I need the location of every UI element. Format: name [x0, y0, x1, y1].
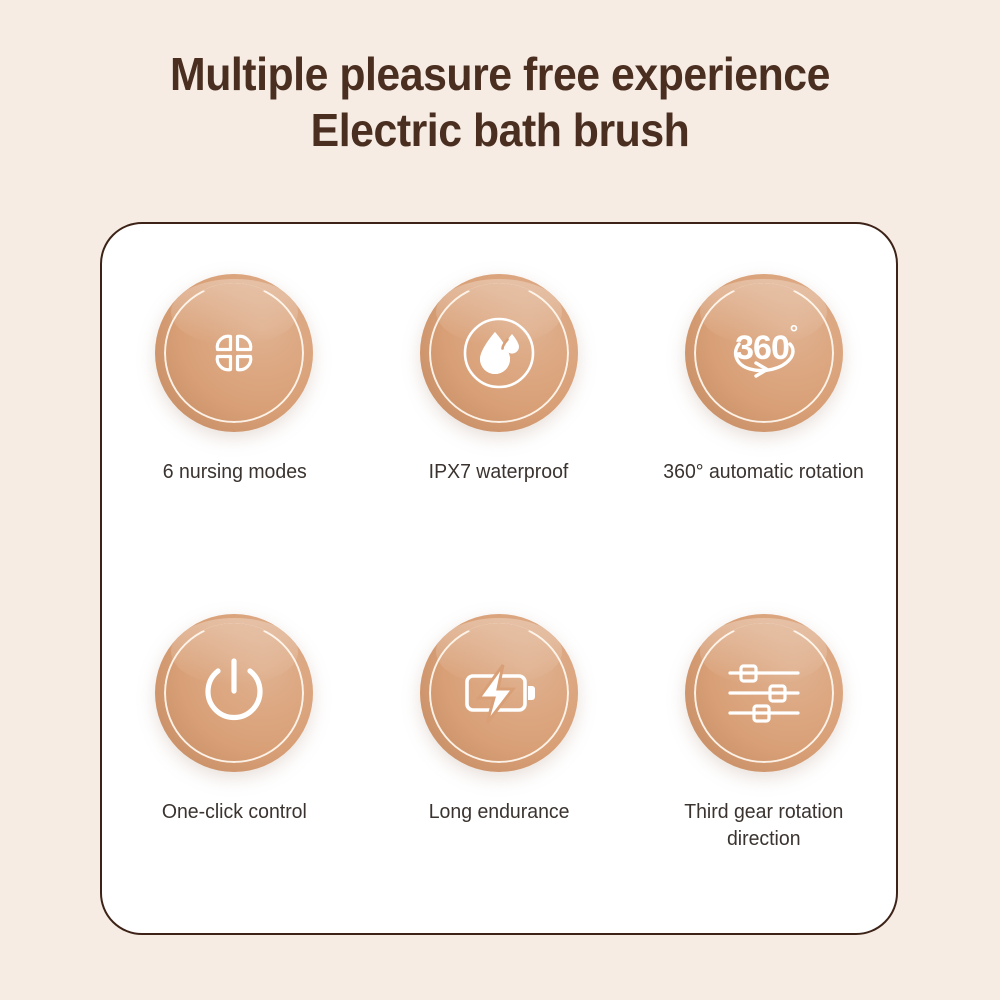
- feature-orb: [420, 614, 578, 772]
- feature-caption: One-click control: [162, 798, 307, 825]
- four-petal-flower-icon: [155, 274, 313, 432]
- feature-item-gear-direction[interactable]: Third gear rotation direction: [631, 594, 896, 852]
- feature-caption: IPX7 waterproof: [429, 458, 569, 485]
- feature-card: 6 nursing modes IPX7 waterproof: [100, 222, 898, 935]
- 360-rotation-icon: 360 °: [685, 274, 843, 432]
- svg-text:360: 360: [735, 329, 789, 367]
- feature-caption: 6 nursing modes: [162, 458, 306, 485]
- feature-orb: [420, 274, 578, 432]
- battery-charge-icon: [420, 614, 578, 772]
- svg-text:°: °: [789, 322, 797, 345]
- feature-orb: [155, 614, 313, 772]
- feature-item-rotation[interactable]: 360 ° 360° automatic rotation: [631, 254, 896, 485]
- feature-item-endurance[interactable]: Long endurance: [367, 594, 632, 825]
- feature-caption: Third gear rotation direction: [684, 798, 843, 852]
- page-title-line-2: Electric bath brush: [35, 102, 965, 158]
- feature-orb: [155, 274, 313, 432]
- page-title-line-1: Multiple pleasure free experience: [35, 46, 965, 102]
- feature-caption: Long endurance: [429, 798, 570, 825]
- feature-grid: 6 nursing modes IPX7 waterproof: [102, 224, 896, 933]
- feature-item-one-click[interactable]: One-click control: [102, 594, 367, 825]
- feature-orb: [685, 614, 843, 772]
- water-drop-icon: [420, 274, 578, 432]
- feature-item-nursing-modes[interactable]: 6 nursing modes: [102, 254, 367, 485]
- feature-item-waterproof[interactable]: IPX7 waterproof: [367, 254, 632, 485]
- power-button-icon: [155, 614, 313, 772]
- page-title: Multiple pleasure free experience Electr…: [35, 46, 965, 158]
- feature-caption: 360° automatic rotation: [663, 458, 863, 485]
- feature-orb: 360 °: [685, 274, 843, 432]
- sliders-icon: [685, 614, 843, 772]
